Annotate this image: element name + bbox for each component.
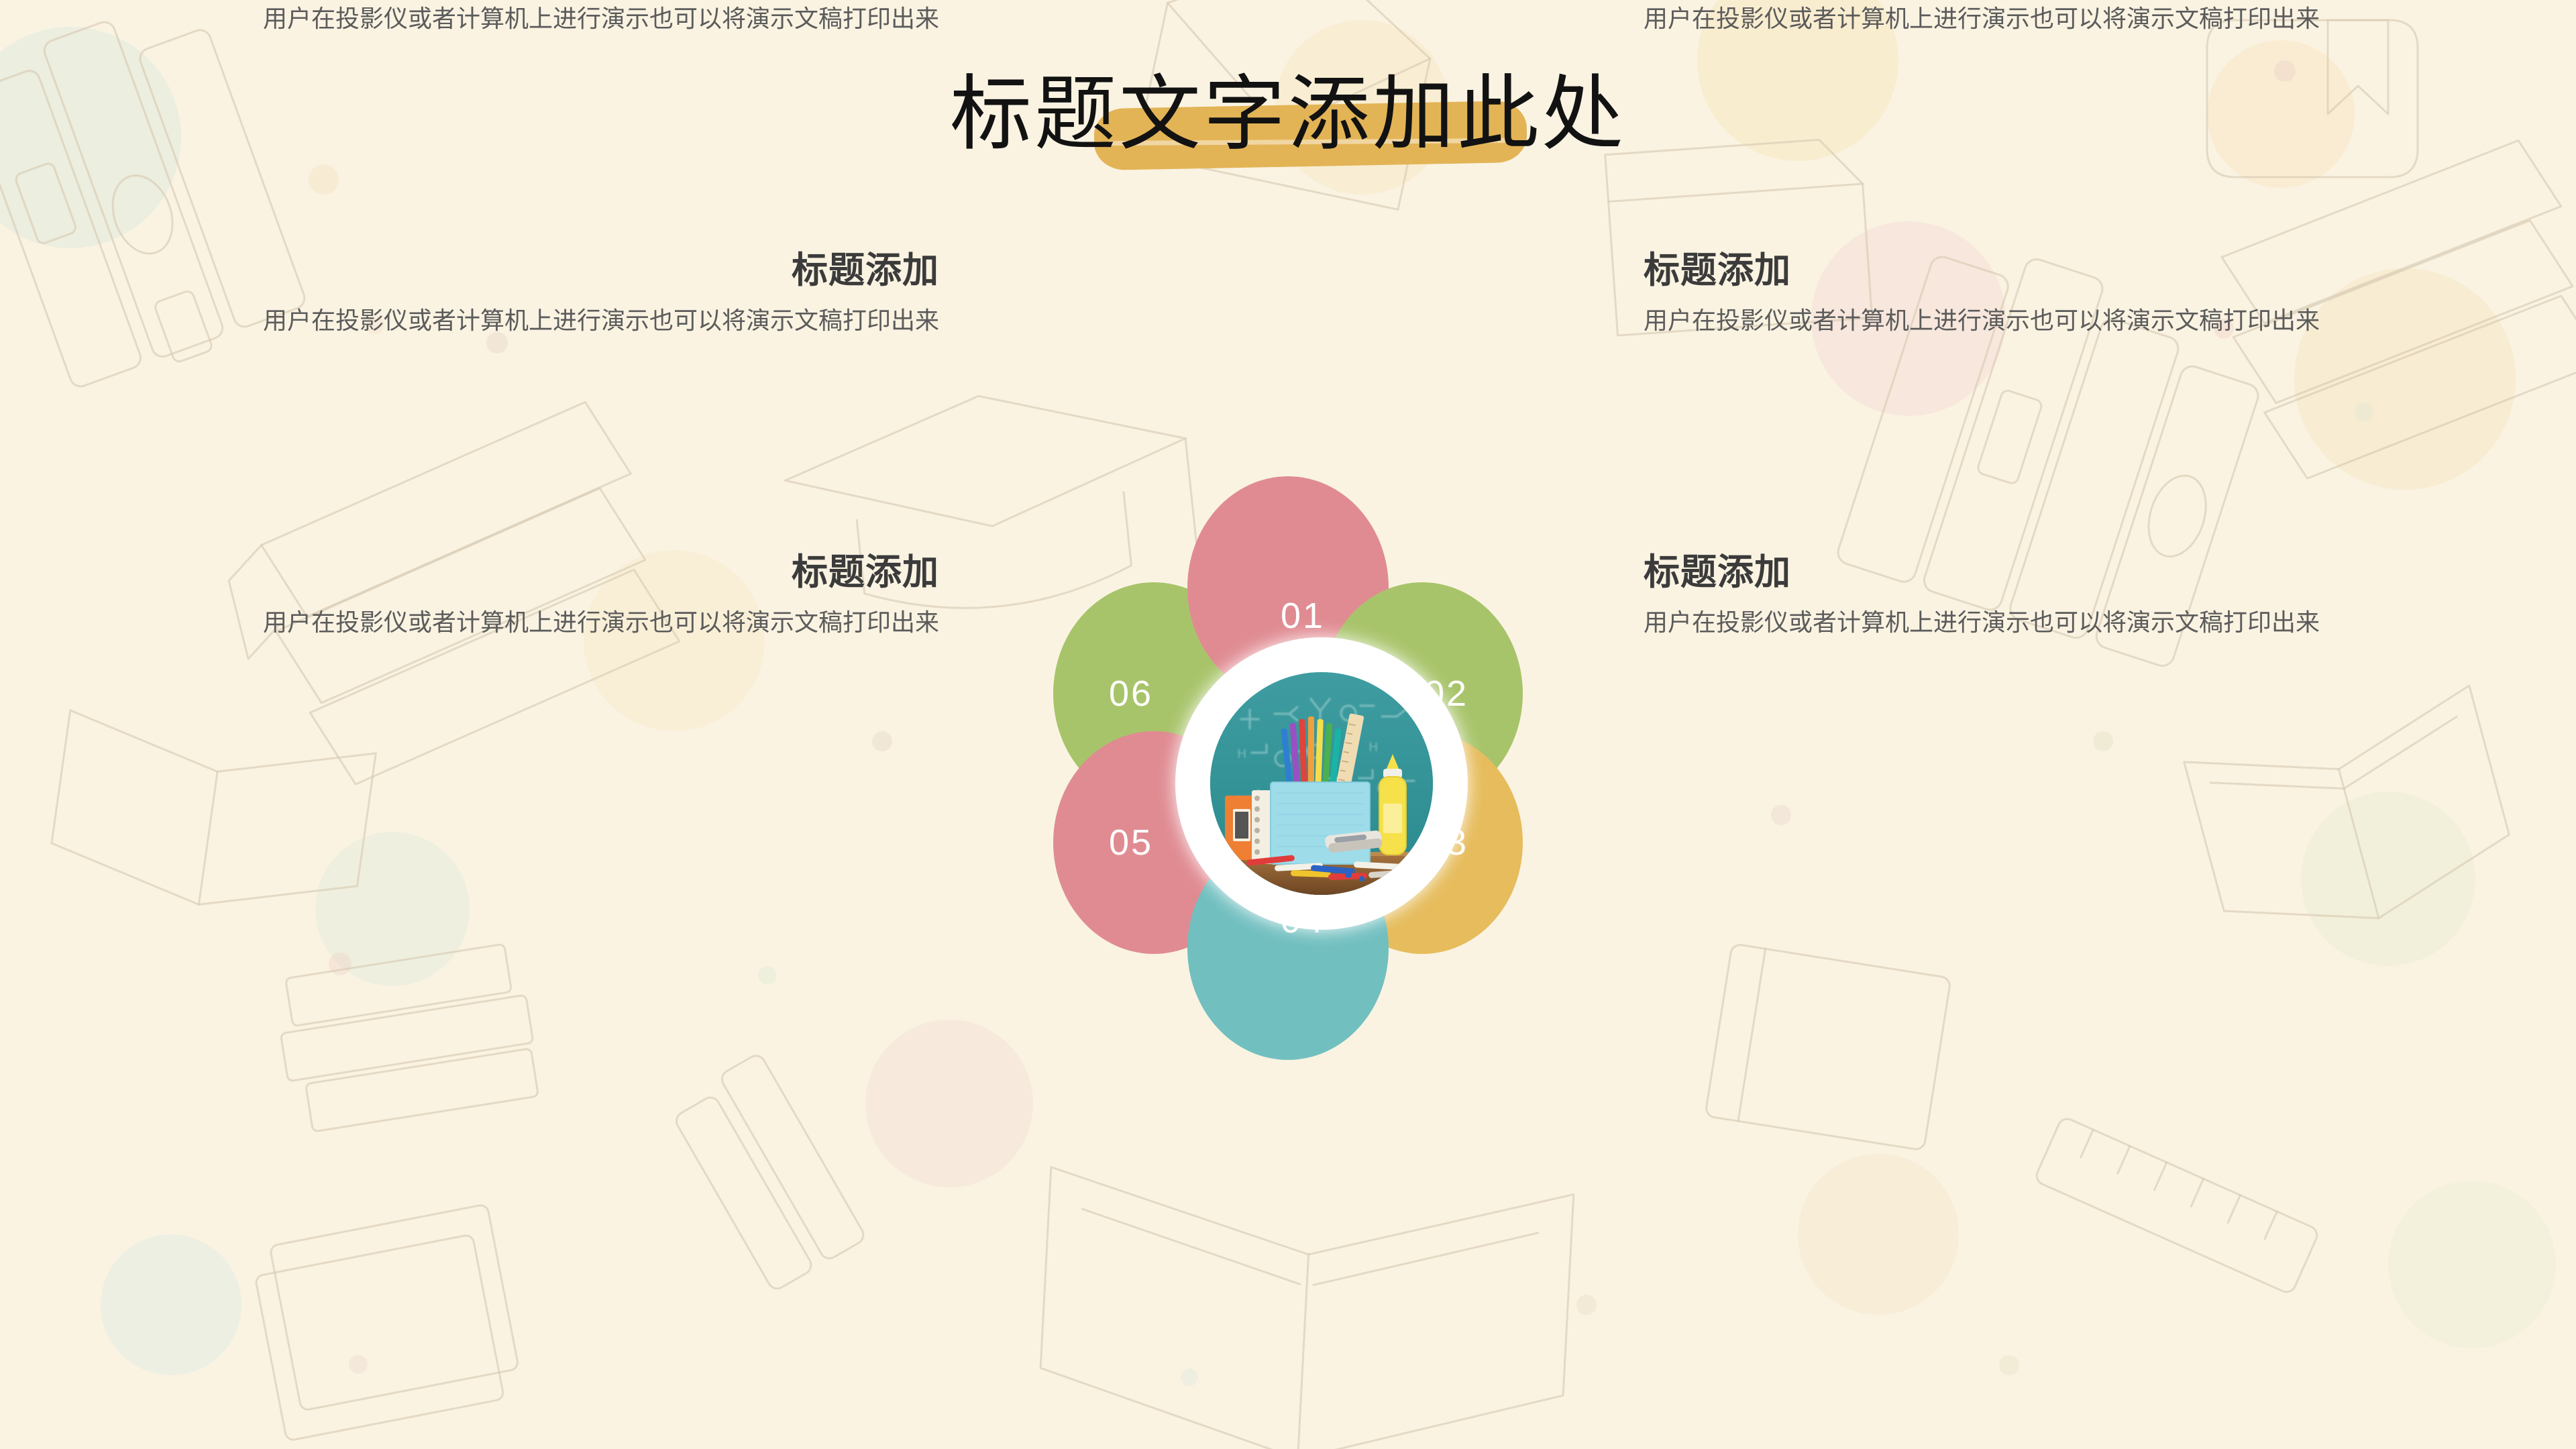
page-title: 标题文字添加此处 — [950, 60, 1626, 171]
block-heading: 标题添加 — [1644, 248, 2321, 294]
petal-number: 05 — [1109, 822, 1153, 863]
bg-dot-8 — [329, 953, 352, 975]
petal-number: 06 — [1109, 673, 1153, 714]
text-block-right-3: 标题添加 用户在投影仪或者计算机上进行演示也可以将演示文稿打印出来 — [1644, 550, 2321, 641]
slide-canvas: 标题文字添加此处 标题添加 用户在投影仪或者计算机上进行演示也可以将演示文稿打印… — [0, 0, 2576, 1449]
block-heading: 标题添加 — [262, 550, 939, 596]
text-block-right-2: 标题添加 用户在投影仪或者计算机上进行演示也可以将演示文稿打印出来 — [1644, 248, 2321, 339]
block-heading: 标题添加 — [262, 248, 939, 294]
bg-dot-6 — [2355, 402, 2373, 421]
bg-blob-yellow-2 — [2294, 268, 2516, 490]
block-body: 用户在投影仪或者计算机上进行演示也可以将演示文稿打印出来 — [1644, 0, 2321, 37]
flower-center-hub: H H C — [1175, 637, 1468, 930]
bg-dot-11 — [2093, 731, 2113, 751]
bg-dot-14 — [1181, 1368, 1198, 1386]
svg-text:H: H — [1368, 740, 1378, 755]
center-photo-school-supplies: H H C — [1210, 672, 1433, 895]
slide-title-container: 标题文字添加此处 — [0, 60, 2576, 195]
text-block-left-1: 标题添加 用户在投影仪或者计算机上进行演示也可以将演示文稿打印出来 — [262, 0, 939, 37]
text-block-right-1: 标题添加 用户在投影仪或者计算机上进行演示也可以将演示文稿打印出来 — [1644, 0, 2321, 37]
bg-blob-aqua — [101, 1234, 241, 1375]
block-body: 用户在投影仪或者计算机上进行演示也可以将演示文稿打印出来 — [262, 0, 939, 37]
block-body: 用户在投影仪或者计算机上进行演示也可以将演示文稿打印出来 — [1644, 604, 2321, 641]
bg-blob-peach — [1798, 1154, 1959, 1315]
bg-blob-lime — [2388, 1181, 2556, 1348]
block-body: 用户在投影仪或者计算机上进行演示也可以将演示文稿打印出来 — [262, 604, 939, 641]
bg-dot-10 — [1771, 805, 1791, 825]
bg-dot-9 — [758, 966, 777, 985]
text-block-left-2: 标题添加 用户在投影仪或者计算机上进行演示也可以将演示文稿打印出来 — [262, 248, 939, 339]
bg-blob-sun — [2301, 792, 2475, 966]
bg-blob-rose — [865, 1020, 1033, 1187]
block-heading: 标题添加 — [1644, 550, 2321, 596]
bg-dot-15 — [1999, 1355, 2019, 1375]
bg-dot-12 — [1576, 1295, 1597, 1315]
block-body: 用户在投影仪或者计算机上进行演示也可以将演示文稿打印出来 — [262, 302, 939, 339]
flower-diagram: 06 01 02 05 03 04 — [1026, 470, 1617, 1073]
bg-dot-13 — [349, 1355, 368, 1374]
bg-blob-mint — [315, 832, 470, 986]
svg-text:H: H — [1237, 747, 1246, 761]
text-block-left-3: 标题添加 用户在投影仪或者计算机上进行演示也可以将演示文稿打印出来 — [262, 550, 939, 641]
block-body: 用户在投影仪或者计算机上进行演示也可以将演示文稿打印出来 — [1644, 302, 2321, 339]
bg-dot-7 — [872, 731, 892, 751]
petal-number: 01 — [1281, 595, 1325, 637]
